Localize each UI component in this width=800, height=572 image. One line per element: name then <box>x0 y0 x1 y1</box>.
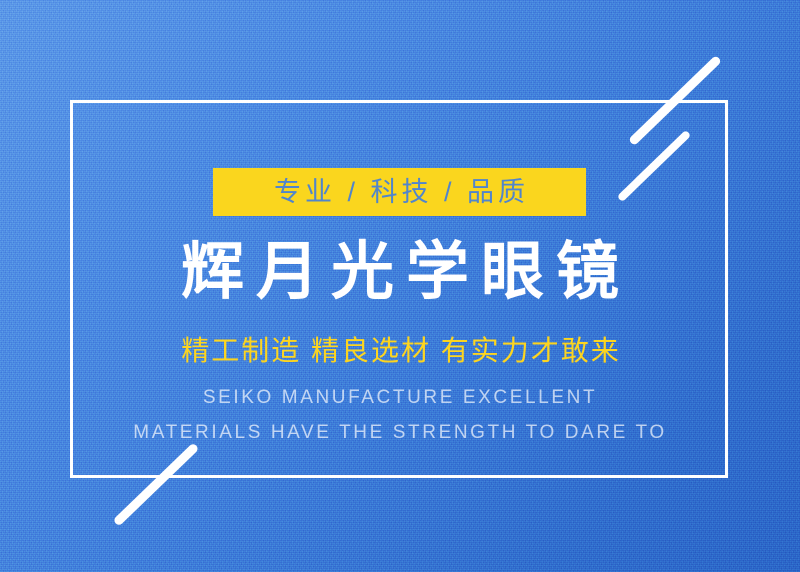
subtitle-english-line-1: SEIKO MANUFACTURE EXCELLENT <box>0 380 800 415</box>
subtitle-english: SEIKO MANUFACTURE EXCELLENT MATERIALS HA… <box>0 380 800 450</box>
subtitle-english-line-2: MATERIALS HAVE THE STRENGTH TO DARE TO <box>0 415 800 450</box>
tagline-text: 专业 / 科技 / 品质 <box>270 179 529 206</box>
promotional-banner: 专业 / 科技 / 品质 辉月光学眼镜 精工制造 精良选材 有实力才敢来 SEI… <box>0 0 800 572</box>
subtitle-chinese: 精工制造 精良选材 有实力才敢来 <box>0 334 800 368</box>
tagline-badge: 专业 / 科技 / 品质 <box>213 168 586 216</box>
page-title: 辉月光学眼镜 <box>0 238 800 305</box>
banner-content: 专业 / 科技 / 品质 辉月光学眼镜 精工制造 精良选材 有实力才敢来 SEI… <box>0 0 800 572</box>
